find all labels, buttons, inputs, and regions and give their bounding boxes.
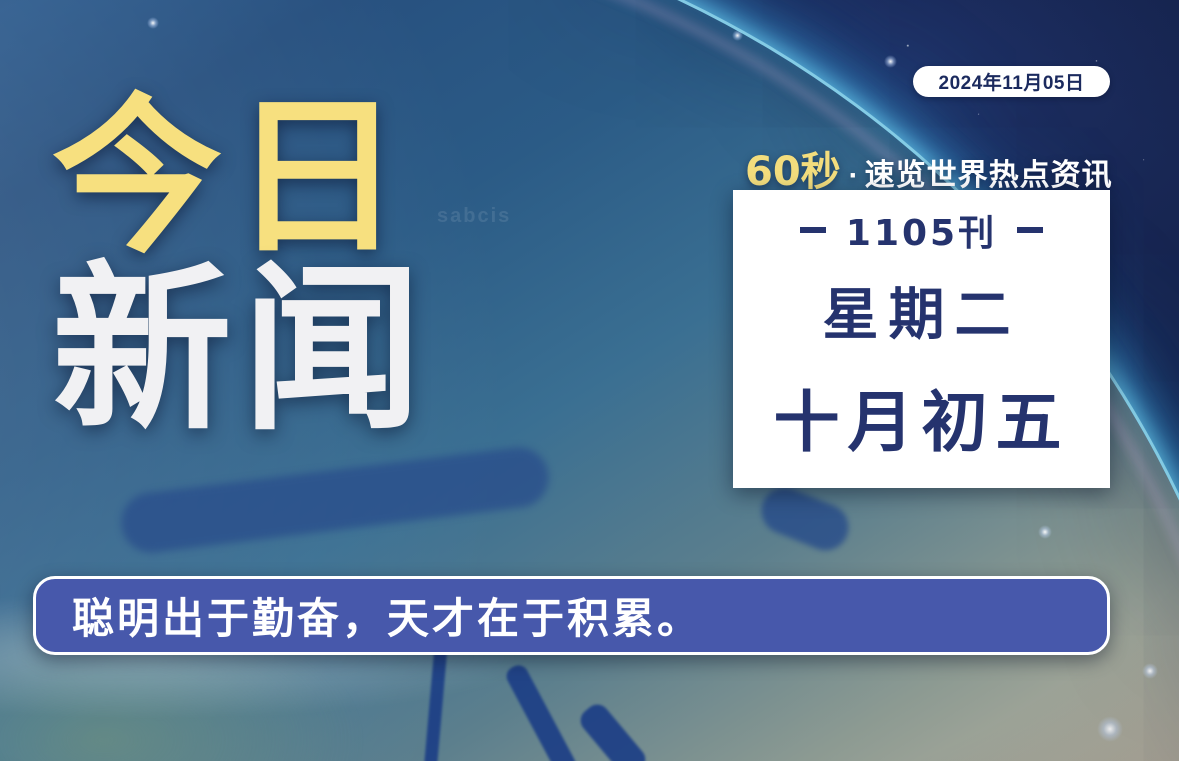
weekday-label: 星期二	[823, 270, 1021, 351]
tagline-separator-dot: ·	[849, 159, 859, 193]
watermark-text: sabcis	[437, 205, 511, 228]
tagline-description: 速览世界热点资讯	[865, 150, 1113, 194]
bright-star	[1142, 663, 1158, 679]
issue-number-row: 1105刊	[800, 204, 1043, 256]
lunar-date-label: 十月初五	[774, 369, 1070, 465]
tagline-seconds: 60秒	[745, 139, 841, 197]
date-badge: 2024年11月05日	[913, 66, 1110, 97]
issue-number: 1105刊	[846, 204, 997, 256]
title-line-xinwen: 新闻	[52, 268, 432, 434]
info-card: 1105刊 星期二 十月初五	[733, 190, 1110, 488]
tagline: 60秒 · 速览世界热点资讯	[745, 139, 1113, 197]
bright-star	[1097, 716, 1123, 742]
quote-text: 聪明出于勤奋，天才在于积累。	[72, 585, 702, 646]
dash-right-icon	[1017, 227, 1043, 233]
bright-star	[884, 55, 897, 68]
title-line-jinri: 今日	[52, 100, 432, 256]
bright-star	[1038, 525, 1052, 539]
bright-star	[147, 17, 159, 29]
dash-left-icon	[800, 227, 826, 233]
poster-canvas: sabcis 今日 新闻 2024年11月05日 60秒 · 速览世界热点资讯 …	[0, 0, 1179, 761]
quote-bar: 聪明出于勤奋，天才在于积累。	[33, 576, 1110, 655]
bright-star	[732, 30, 743, 41]
page-title: 今日 新闻	[52, 100, 432, 434]
